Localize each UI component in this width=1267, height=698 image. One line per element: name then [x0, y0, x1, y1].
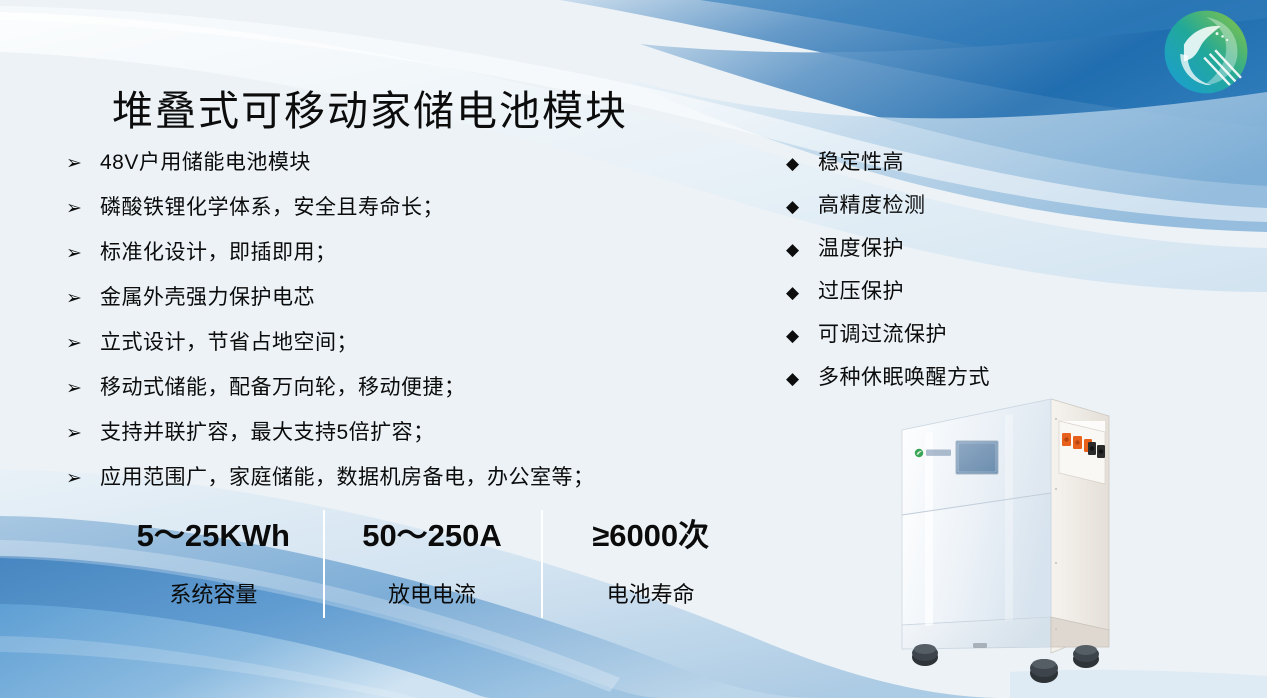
list-item: ◆ 稳定性高 [786, 148, 1116, 191]
list-item: ➢ 48V户用储能电池模块 [66, 148, 716, 193]
spec-label: 系统容量 [169, 580, 257, 610]
list-item: ➢ 支持并联扩容，最大支持5倍扩容； [66, 418, 716, 463]
diamond-bullet-icon: ◆ [786, 149, 818, 179]
spec-column-current: 50〜250A 放电电流 [323, 508, 542, 620]
arrow-bullet-icon: ➢ [66, 329, 100, 359]
diamond-bullet-icon: ◆ [786, 192, 818, 222]
arrow-bullet-icon: ➢ [66, 464, 100, 494]
spec-summary-strip: 5〜25KWh 系统容量 50〜250A 放电电流 ≥6000次 电池寿命 [104, 508, 760, 620]
list-item-label: 稳定性高 [818, 148, 904, 178]
company-logo [1160, 6, 1252, 98]
arrow-bullet-icon: ➢ [66, 374, 100, 404]
battery-cabinet-illustration [855, 385, 1155, 685]
spec-value: 5〜25KWh [137, 516, 290, 556]
arrow-bullet-icon: ➢ [66, 194, 100, 224]
caster-wheels [912, 644, 1099, 683]
list-item-label: 高精度检测 [818, 191, 926, 221]
diamond-bullet-icon: ◆ [786, 235, 818, 265]
list-item-label: 标准化设计，即插即用； [100, 238, 337, 268]
list-item-label: 应用范围广，家庭储能，数据机房备电，办公室等； [100, 463, 595, 493]
arrow-bullet-icon: ➢ [66, 239, 100, 269]
diamond-bullet-icon: ◆ [786, 321, 818, 351]
list-item: ◆ 温度保护 [786, 234, 1116, 277]
feature-list-left: ➢ 48V户用储能电池模块 ➢ 磷酸铁锂化学体系，安全且寿命长； ➢ 标准化设计… [66, 148, 716, 508]
display-screen [956, 441, 998, 474]
feature-list-right: ◆ 稳定性高 ◆ 高精度检测 ◆ 温度保护 ◆ 过压保护 ◆ 可调过流保护 ◆ … [786, 148, 1116, 406]
list-item: ➢ 立式设计，节省占地空间； [66, 328, 716, 373]
list-item-label: 温度保护 [818, 234, 904, 264]
list-item-label: 过压保护 [818, 277, 904, 307]
spec-value: 50〜250A [362, 516, 502, 556]
diamond-bullet-icon: ◆ [786, 364, 818, 394]
leaf-circle-icon [1160, 6, 1252, 98]
list-item-label: 立式设计，节省占地空间； [100, 328, 358, 358]
spec-column-capacity: 5〜25KWh 系统容量 [104, 508, 323, 620]
list-item-label: 移动式储能，配备万向轮，移动便捷； [100, 373, 466, 403]
page-title: 堆叠式可移动家储电池模块 [112, 77, 628, 137]
list-item-label: 磷酸铁锂化学体系，安全且寿命长； [100, 193, 444, 223]
list-item: ➢ 金属外壳强力保护电芯 [66, 283, 716, 328]
list-item: ➢ 磷酸铁锂化学体系，安全且寿命长； [66, 193, 716, 238]
spec-label: 放电电流 [388, 580, 476, 610]
spec-value: ≥6000次 [592, 516, 709, 556]
list-item-label: 金属外壳强力保护电芯 [100, 283, 315, 313]
spec-column-lifecycle: ≥6000次 电池寿命 [541, 508, 760, 620]
arrow-bullet-icon: ➢ [66, 284, 100, 314]
list-item: ➢ 应用范围广，家庭储能，数据机房备电，办公室等； [66, 463, 716, 508]
arrow-bullet-icon: ➢ [66, 419, 100, 449]
list-item-label: 48V户用储能电池模块 [100, 148, 311, 178]
list-item: ◆ 过压保护 [786, 277, 1116, 320]
product-photo [855, 385, 1155, 685]
list-item: ◆ 高精度检测 [786, 191, 1116, 234]
list-item-label: 可调过流保护 [818, 320, 947, 350]
list-item: ➢ 标准化设计，即插即用； [66, 238, 716, 283]
diamond-bullet-icon: ◆ [786, 278, 818, 308]
arrow-bullet-icon: ➢ [66, 149, 100, 179]
list-item: ➢ 移动式储能，配备万向轮，移动便捷； [66, 373, 716, 418]
slide-canvas: 堆叠式可移动家储电池模块 ➢ 48V户用储能电池模块 ➢ 磷酸铁锂化学体系，安全… [0, 0, 1267, 698]
list-item: ◆ 可调过流保护 [786, 320, 1116, 363]
spec-label: 电池寿命 [607, 580, 695, 610]
list-item-label: 支持并联扩容，最大支持5倍扩容； [100, 418, 435, 448]
